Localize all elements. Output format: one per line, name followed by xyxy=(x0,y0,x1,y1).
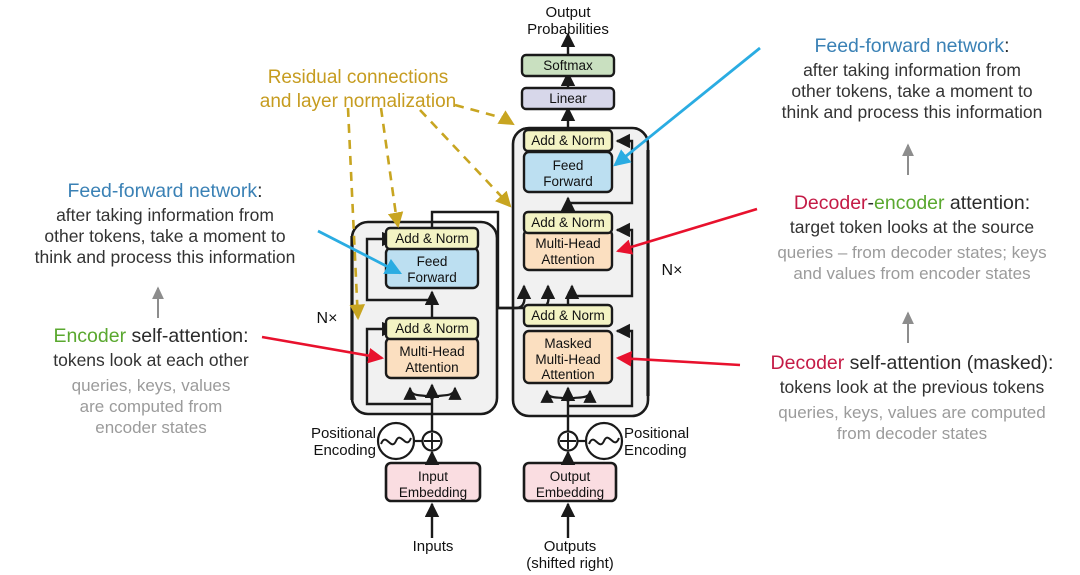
ffn-right-heading: Feed-forward network: xyxy=(744,35,1080,59)
masked-line1: Masked xyxy=(544,336,591,351)
annotation-encoder-self-attention: Encoder self-attention: tokens look at e… xyxy=(6,325,296,438)
encoder-add-norm-1-label: Add & Norm xyxy=(386,321,478,337)
encoder-self-attn-heading-rest: self-attention: xyxy=(126,325,248,347)
residual-dashed-arrow-2 xyxy=(381,108,398,226)
decoder-positional-encoding-label: Positional Encoding xyxy=(624,425,710,460)
dec-enc-sub1: queries – from decoder states; keys xyxy=(744,243,1080,264)
annotation-decoder-encoder-attention: Decoder-encoder attention: target token … xyxy=(744,192,1080,285)
ffn-right-heading-colored: Feed-forward network xyxy=(814,35,1004,57)
ffn-left-body1: after taking information from xyxy=(0,205,330,226)
decoder-ff-line2: Forward xyxy=(543,174,593,189)
enc-pos-line2: Encoding xyxy=(313,442,376,459)
ffn-left-heading-colored: Feed-forward network xyxy=(67,180,257,202)
residual-line2: and layer normalization xyxy=(260,91,456,112)
ffn-left-body2: other tokens, take a moment to xyxy=(0,226,330,247)
output-emb-line1: Output xyxy=(550,469,591,484)
dec-pos-line1: Positional xyxy=(624,425,689,442)
masked-line2: Multi-Head xyxy=(535,352,600,367)
decoder-feed-forward-label: Feed Forward xyxy=(524,158,612,189)
ffn-left-heading-suffix: : xyxy=(257,180,262,202)
decoder-self-attn-heading-colored: Decoder xyxy=(771,352,845,374)
ffn-right-body3: think and process this information xyxy=(744,102,1080,123)
dec-enc-body1: target token looks at the source xyxy=(744,217,1080,238)
decoder-self-attn-heading-rest: self-attention (masked): xyxy=(844,352,1053,374)
encoder-positional-encoding-label: Positional Encoding xyxy=(296,425,376,460)
decoder-add-norm-2-label: Add & Norm xyxy=(524,215,612,231)
input-emb-line1: Input xyxy=(418,469,448,484)
encoder-mha-line1: Multi-Head xyxy=(399,344,464,359)
annotation-ffn-left: Feed-forward network: after taking infor… xyxy=(0,180,330,269)
residual-line1: Residual connections xyxy=(268,67,449,88)
encoder-self-attn-sub3: encoder states xyxy=(6,418,296,439)
decoder-cross-line1: Multi-Head xyxy=(535,236,600,251)
encoder-self-attn-heading-colored: Encoder xyxy=(53,325,126,347)
encoder-ff-line1: Feed xyxy=(417,254,448,269)
ffn-right-body1: after taking information from xyxy=(744,60,1080,81)
decoder-add-norm-3-label: Add & Norm xyxy=(524,308,612,324)
output-probabilities-line2: Probabilities xyxy=(527,21,609,38)
ffn-right-pointer-arrow xyxy=(615,48,760,165)
encoder-mha-line2: Attention xyxy=(405,360,458,375)
decoder-self-attn-sub1: queries, keys, values are computed xyxy=(744,403,1080,424)
decoder-encoder-attn-heading: Decoder-encoder attention: xyxy=(744,192,1080,216)
enc-pos-line1: Positional xyxy=(311,425,376,442)
decoder-repeat-label: N× xyxy=(655,262,689,281)
decoder-self-attn-sub2: from decoder states xyxy=(744,424,1080,445)
outputs-line1: Outputs xyxy=(544,538,597,555)
ffn-left-body3: think and process this information xyxy=(0,247,330,268)
input-emb-line2: Embedding xyxy=(399,485,467,500)
dec-enc-heading-part2: encoder xyxy=(874,192,944,214)
output-emb-line2: Embedding xyxy=(536,485,604,500)
annotation-decoder-self-attention: Decoder self-attention (masked): tokens … xyxy=(744,352,1080,445)
encoder-self-attn-body1: tokens look at each other xyxy=(6,350,296,371)
encoder-feed-forward-label: Feed Forward xyxy=(386,254,478,285)
transformer-diagram-page: Output Probabilities Softmax Linear Add … xyxy=(0,0,1080,575)
softmax-label: Softmax xyxy=(522,58,614,74)
encoder-multi-head-attention-label: Multi-Head Attention xyxy=(386,344,478,375)
outputs-line2: (shifted right) xyxy=(526,555,614,572)
residual-dashed-arrow-3 xyxy=(420,110,510,206)
encoder-repeat-label: N× xyxy=(310,310,344,329)
encoder-self-attn-sub2: are computed from xyxy=(6,397,296,418)
decoder-cross-attention-label: Multi-Head Attention xyxy=(524,236,612,267)
annotation-residual-connections: Residual connections and layer normaliza… xyxy=(232,66,484,114)
decoder-ff-line1: Feed xyxy=(553,158,584,173)
encoder-ff-line2: Forward xyxy=(407,270,457,285)
output-embedding-label: Output Embedding xyxy=(524,469,616,500)
encoder-self-attn-sub1: queries, keys, values xyxy=(6,376,296,397)
inputs-label: Inputs xyxy=(392,538,474,555)
encoder-add-norm-2-label: Add & Norm xyxy=(386,231,478,247)
outputs-label: Outputs (shifted right) xyxy=(503,538,637,573)
input-embedding-label: Input Embedding xyxy=(386,469,480,500)
decoder-masked-attention-label: Masked Multi-Head Attention xyxy=(524,336,612,383)
dec-enc-sub2: and values from encoder states xyxy=(744,264,1080,285)
encoder-self-attn-heading: Encoder self-attention: xyxy=(6,325,296,349)
annotation-ffn-right: Feed-forward network: after taking infor… xyxy=(744,35,1080,124)
output-probabilities-line1: Output xyxy=(545,4,590,21)
decoder-self-attn-heading: Decoder self-attention (masked): xyxy=(744,352,1080,376)
decoder-self-attn-body1: tokens look at the previous tokens xyxy=(744,377,1080,398)
ffn-left-heading: Feed-forward network: xyxy=(0,180,330,204)
linear-label: Linear xyxy=(522,91,614,107)
ffn-right-body2: other tokens, take a moment to xyxy=(744,81,1080,102)
dec-enc-heading-rest: attention: xyxy=(945,192,1031,214)
decoder-add-norm-1-label: Add & Norm xyxy=(524,133,612,149)
dec-enc-heading-part1: Decoder xyxy=(794,192,868,214)
ffn-right-heading-suffix: : xyxy=(1004,35,1009,57)
output-probabilities-label: Output Probabilities xyxy=(508,4,628,39)
decoder-cross-line2: Attention xyxy=(541,252,594,267)
masked-line3: Attention xyxy=(541,367,594,382)
dec-pos-line2: Encoding xyxy=(624,442,687,459)
